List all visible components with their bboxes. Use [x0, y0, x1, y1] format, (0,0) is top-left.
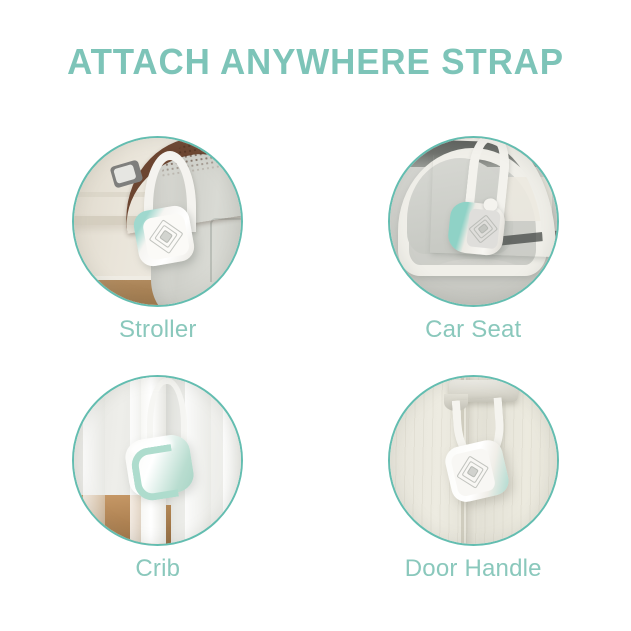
feature-item-stroller: Stroller	[38, 136, 278, 375]
crib-slat-shape	[223, 375, 244, 546]
device-shape	[123, 432, 196, 500]
crib-slat-shape	[83, 375, 105, 546]
device-face-shape	[449, 447, 496, 497]
feature-label-stroller: Stroller	[119, 318, 197, 342]
feature-grid: Stroller	[0, 136, 631, 614]
feature-item-door-handle: Door Handle	[353, 375, 593, 614]
handle-clamp-inner-shape	[113, 164, 136, 184]
infographic-page: ATTACH ANYWHERE STRAP	[0, 0, 631, 631]
speaker-rings-icon	[470, 215, 497, 241]
device-shape	[132, 203, 197, 268]
feature-label-crib: Crib	[135, 557, 180, 581]
feature-item-car-seat: Car Seat	[353, 136, 593, 375]
photo-door-handle	[388, 375, 559, 546]
page-title: ATTACH ANYWHERE STRAP	[9, 41, 621, 83]
photo-stroller	[72, 136, 243, 307]
stroller-pocket-shape	[210, 218, 243, 282]
photo-crib	[72, 375, 243, 546]
device-shape	[447, 200, 507, 257]
scene-door-handle-art	[388, 375, 559, 546]
device-face-shape	[466, 208, 502, 249]
scene-crib-art	[72, 375, 243, 546]
feature-item-crib: Crib	[38, 375, 278, 614]
speaker-rings-icon	[151, 221, 182, 252]
scene-stroller-art	[72, 136, 243, 307]
feature-label-door-handle: Door Handle	[405, 557, 542, 581]
device-face-shape	[142, 212, 190, 260]
device-clip-shape	[129, 444, 179, 502]
feature-label-car-seat: Car Seat	[425, 318, 521, 342]
photo-car-seat	[388, 136, 559, 307]
speaker-rings-icon	[458, 457, 488, 488]
scene-car-seat-art	[388, 136, 559, 307]
